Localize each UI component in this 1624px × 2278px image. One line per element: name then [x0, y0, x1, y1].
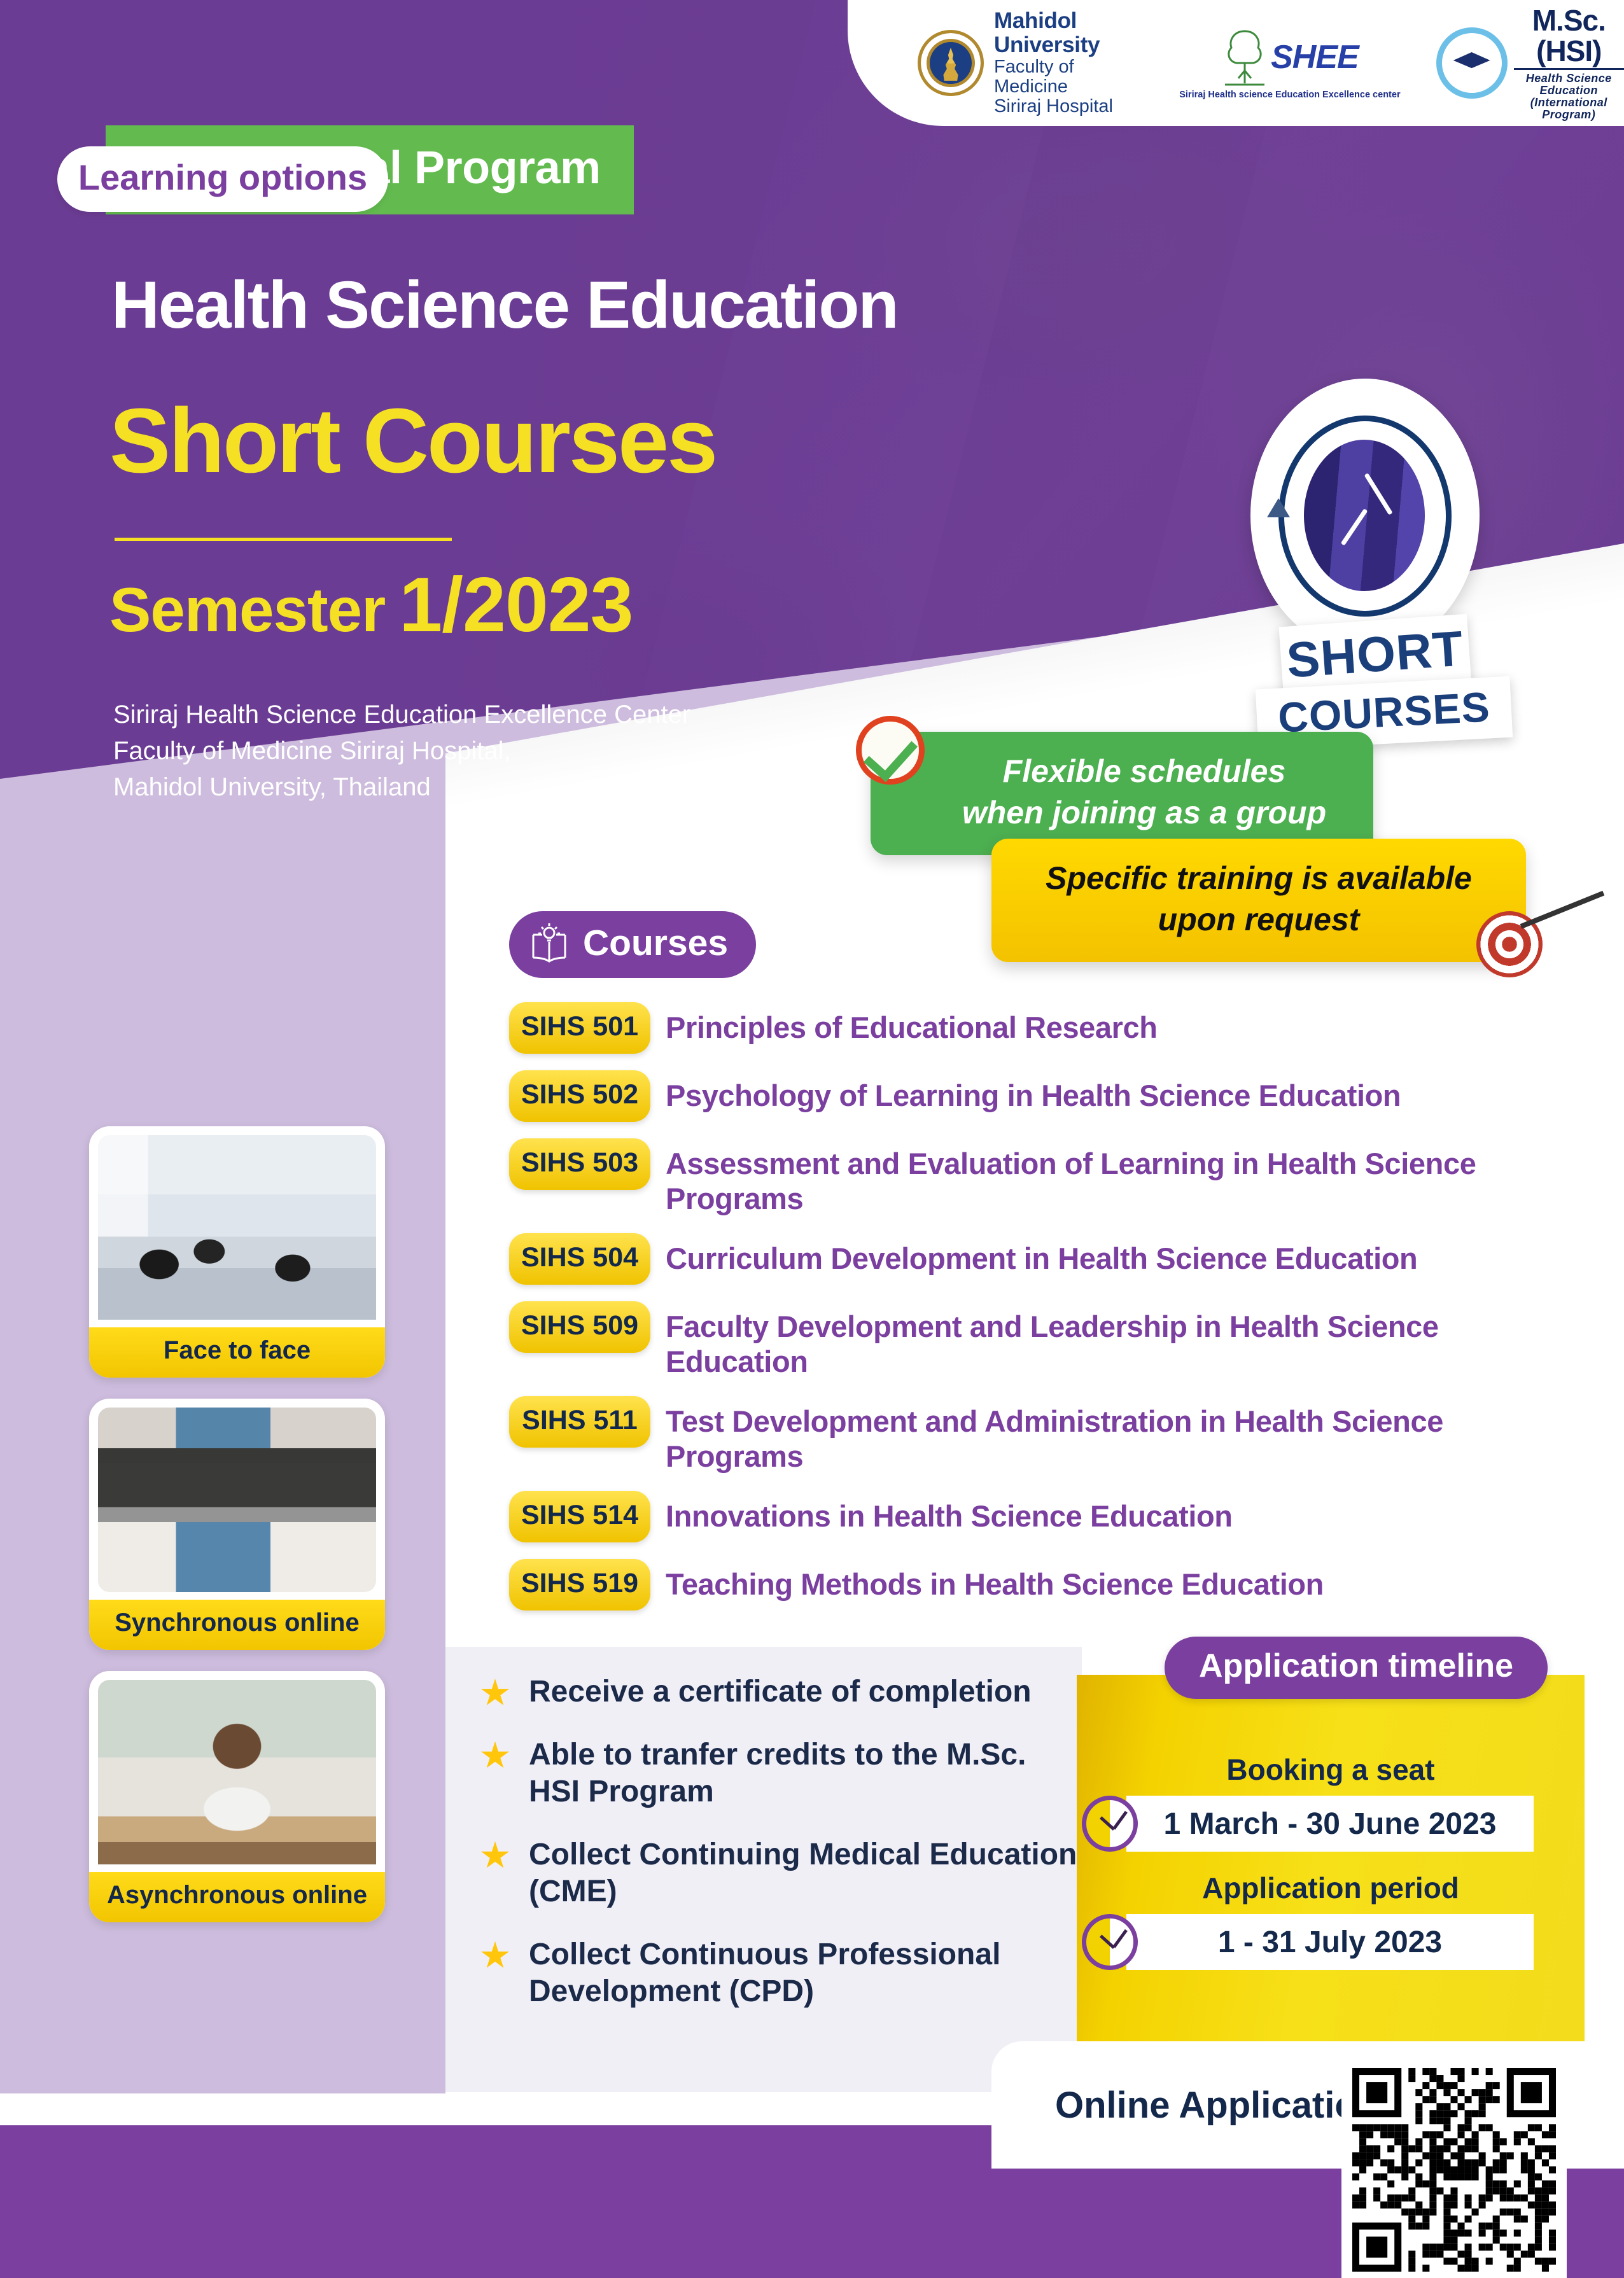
learning-option-card-asynchronous[interactable]: Asynchronous online	[89, 1671, 385, 1922]
course-code-badge: SIHS 511	[509, 1396, 650, 1448]
course-title: Test Development and Administration in H…	[666, 1396, 1585, 1474]
shee-caption: Siriraj Health science Education Excelle…	[1179, 90, 1400, 100]
course-code-badge: SIHS 502	[509, 1070, 650, 1122]
mahidol-logo-line1: Mahidol University	[994, 9, 1144, 57]
course-title: Psychology of Learning in Health Science…	[666, 1070, 1401, 1113]
course-row[interactable]: SIHS 519 Teaching Methods in Health Scie…	[509, 1559, 1585, 1611]
mahidol-seal-icon	[918, 30, 984, 96]
student-laptop-photo	[98, 1680, 376, 1864]
circular-arrow-icon	[1267, 498, 1290, 517]
title-divider	[115, 538, 452, 541]
star-icon	[480, 1679, 510, 1708]
courses-list: SIHS 501 Principles of Educational Resea…	[509, 1002, 1585, 1627]
course-row[interactable]: SIHS 501 Principles of Educational Resea…	[509, 1002, 1585, 1054]
mahidol-logo-line2: Faculty of Medicine	[994, 57, 1144, 97]
learning-option-label-0: Face to face	[89, 1327, 385, 1378]
benefit-text: Able to tranfer credits to the M.Sc. HSI…	[529, 1736, 1082, 1811]
classroom-photo	[98, 1135, 376, 1320]
clock-icon	[1082, 1796, 1138, 1852]
course-code-badge: SIHS 519	[509, 1559, 650, 1611]
poster-root: Mahidol University Faculty of Medicine S…	[0, 0, 1624, 2278]
logo-header-panel: Mahidol University Faculty of Medicine S…	[848, 0, 1624, 126]
course-row[interactable]: SIHS 509 Faculty Development and Leaders…	[509, 1301, 1585, 1380]
courses-heading-badge: Courses	[509, 911, 756, 978]
flexible-schedules-line2: when joining as a group	[934, 792, 1354, 834]
semester-number: 1/2023	[399, 560, 633, 649]
benefit-item: Able to tranfer credits to the M.Sc. HSI…	[445, 1736, 1082, 1811]
course-code-badge: SIHS 514	[509, 1491, 650, 1542]
shee-wordmark: SHEE	[1271, 41, 1359, 74]
booking-value: 1 March - 30 June 2023	[1126, 1796, 1534, 1852]
organization-address: Siriraj Health Science Education Excelle…	[113, 697, 690, 805]
address-line-3: Mahidol University, Thailand	[113, 769, 690, 806]
flexible-schedules-line1: Flexible schedules	[934, 751, 1354, 792]
online-application-label: Online Application	[991, 2084, 1380, 2127]
application-timeline-heading: Application timeline	[1165, 1637, 1548, 1699]
mahidol-university-logo: Mahidol University Faculty of Medicine S…	[918, 9, 1144, 117]
learning-option-label-1: Synchronous online	[89, 1600, 385, 1650]
course-title: Principles of Educational Research	[666, 1002, 1158, 1045]
learning-option-card-synchronous[interactable]: Synchronous online	[89, 1399, 385, 1650]
mahidol-logo-line3: Siriraj Hospital	[994, 97, 1144, 116]
course-row[interactable]: SIHS 504 Curriculum Development in Healt…	[509, 1233, 1585, 1285]
tree-icon	[1221, 26, 1268, 88]
flexible-schedules-callout: Flexible schedules when joining as a gro…	[871, 732, 1373, 855]
course-row[interactable]: SIHS 511 Test Development and Administra…	[509, 1396, 1585, 1474]
star-icon	[480, 1941, 510, 1971]
qr-code[interactable]	[1341, 2062, 1567, 2278]
clock-icon	[1082, 1914, 1138, 1970]
learning-option-label-2: Asynchronous online	[89, 1872, 385, 1922]
application-timeline-panel	[1077, 1675, 1585, 2050]
course-row[interactable]: SIHS 502 Psychology of Learning in Healt…	[509, 1070, 1585, 1122]
semester-word: Semester	[109, 574, 385, 646]
specific-training-line1: Specific training is available	[1017, 858, 1501, 899]
course-code-badge: SIHS 509	[509, 1301, 650, 1353]
msc-sub1: Health Science Education	[1514, 73, 1624, 96]
courses-heading-label: Courses	[583, 922, 728, 964]
clock-check-icon	[856, 716, 925, 785]
star-icon	[480, 1742, 510, 1771]
poster-subtitle: Short Courses	[109, 388, 716, 494]
msc-title: M.Sc.(HSI)	[1514, 6, 1624, 67]
benefit-text: Receive a certificate of completion	[529, 1674, 1032, 1711]
shee-logo: SHEE Siriraj Health science Education Ex…	[1179, 26, 1400, 100]
course-title: Faculty Development and Leadership in He…	[666, 1301, 1585, 1380]
course-title: Innovations in Health Science Education	[666, 1491, 1233, 1534]
benefit-item: Collect Continuing Medical Education (CM…	[445, 1836, 1082, 1911]
benefit-text: Collect Continuous Professional Developm…	[529, 1936, 1082, 2011]
course-title: Curriculum Development in Health Science…	[666, 1233, 1417, 1276]
star-icon	[480, 1841, 510, 1871]
semester-line: Semester 1/2023	[109, 560, 633, 649]
book-lightbulb-icon	[528, 922, 570, 964]
course-title: Teaching Methods in Health Science Educa…	[666, 1559, 1324, 1602]
learning-options-heading: Learning options	[57, 146, 388, 212]
benefit-text: Collect Continuing Medical Education (CM…	[529, 1836, 1082, 1911]
course-code-badge: SIHS 503	[509, 1138, 650, 1190]
course-row[interactable]: SIHS 503 Assessment and Evaluation of Le…	[509, 1138, 1585, 1217]
benefit-item: Receive a certificate of completion	[445, 1674, 1082, 1711]
course-code-badge: SIHS 501	[509, 1002, 650, 1054]
graduation-cap-icon	[1436, 27, 1508, 99]
laptop-video-call-photo	[98, 1408, 376, 1592]
benefits-list: Receive a certificate of completion Able…	[445, 1674, 1082, 2036]
msc-hsi-logo: M.Sc.(HSI) Health Science Education (Int…	[1436, 6, 1624, 121]
address-line-1: Siriraj Health Science Education Excelle…	[113, 697, 690, 733]
course-title: Assessment and Evaluation of Learning in…	[666, 1138, 1585, 1217]
poster-title: Health Science Education	[111, 267, 898, 344]
specific-training-line2: upon request	[1017, 899, 1501, 940]
course-code-badge: SIHS 504	[509, 1233, 650, 1285]
booking-label: Booking a seat	[1077, 1752, 1585, 1787]
course-row[interactable]: SIHS 514 Innovations in Health Science E…	[509, 1491, 1585, 1542]
msc-sub2: (International Program)	[1514, 97, 1624, 120]
learning-option-card-face-to-face[interactable]: Face to face	[89, 1126, 385, 1378]
address-line-2: Faculty of Medicine Siriraj Hospital,	[113, 733, 690, 769]
application-period-value: 1 - 31 July 2023	[1126, 1914, 1534, 1970]
specific-training-callout: Specific training is available upon requ…	[991, 839, 1526, 962]
application-period-label: Application period	[1077, 1871, 1585, 1905]
benefit-item: Collect Continuous Professional Developm…	[445, 1936, 1082, 2011]
short-courses-emblem: SHORT COURSES	[1250, 379, 1518, 735]
